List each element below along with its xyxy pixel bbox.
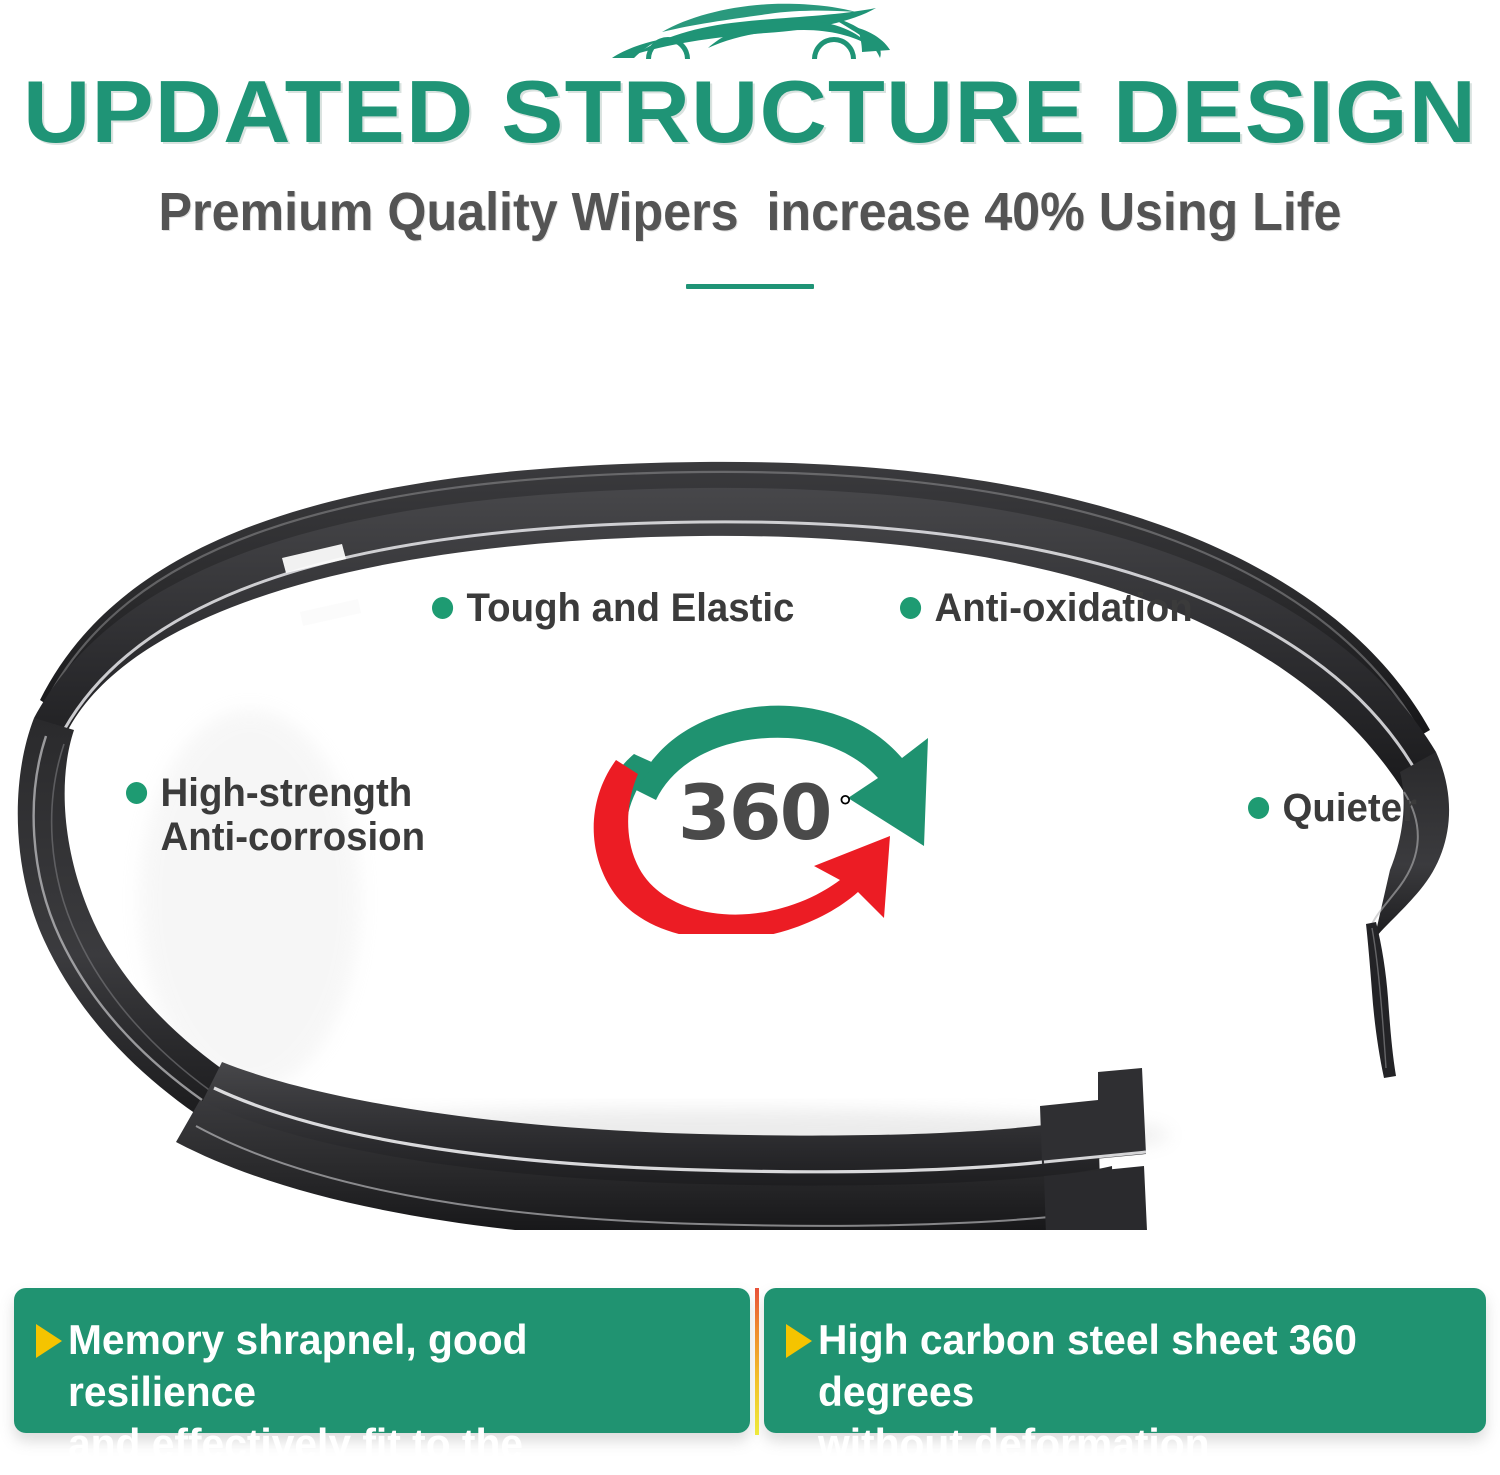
bullet-dot-icon <box>126 782 147 804</box>
feature-label: Quieter <box>1283 786 1417 830</box>
triangle-bullet-icon <box>786 1324 812 1358</box>
product-infographic: UPDATED STRUCTURE DESIGN Premium Quality… <box>0 0 1500 1475</box>
bullet-dot-icon <box>1248 797 1269 819</box>
brand-logo <box>0 2 1500 64</box>
feature-anti-oxidation: Anti-oxidation <box>900 586 1193 630</box>
triangle-bullet-icon <box>36 1324 62 1358</box>
feature-quieter: Quieter <box>1248 786 1417 830</box>
feature-label: High-strength Anti-corrosion <box>161 771 426 859</box>
banner-text: Memory shrapnel, good resilience and eff… <box>68 1314 712 1475</box>
rotation-360-badge: 360° <box>572 694 962 934</box>
bullet-dot-icon <box>432 597 453 619</box>
feature-high-strength-anti-corrosion: High-strength Anti-corrosion <box>126 771 425 859</box>
page-subtitle: Premium Quality Wipers increase 40% Usin… <box>53 183 1448 241</box>
title-underline-accent <box>686 284 814 289</box>
banner-text: High carbon steel sheet 360 degrees with… <box>818 1314 1449 1470</box>
feature-label: Anti-oxidation <box>935 586 1193 630</box>
bottom-banner-row: Memory shrapnel, good resilience and eff… <box>0 1288 1500 1438</box>
banner-divider <box>755 1288 759 1435</box>
feature-tough-and-elastic: Tough and Elastic <box>432 586 794 630</box>
sports-car-logo-icon <box>590 2 910 64</box>
banner-memory-shrapnel: Memory shrapnel, good resilience and eff… <box>14 1288 750 1433</box>
banner-high-carbon-steel: High carbon steel sheet 360 degrees with… <box>764 1288 1486 1433</box>
rotation-360-arrows-icon <box>572 694 962 934</box>
feature-label: Tough and Elastic <box>467 586 795 630</box>
bullet-dot-icon <box>900 597 921 619</box>
page-title: UPDATED STRUCTURE DESIGN <box>0 66 1500 158</box>
